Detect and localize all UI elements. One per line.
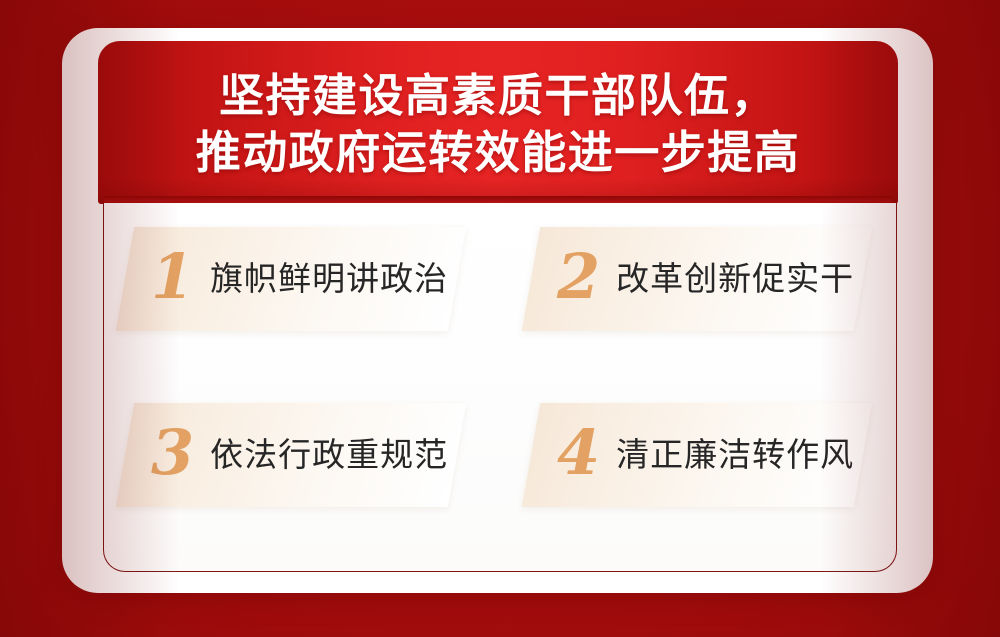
item-label-2: 改革创新促实干 bbox=[616, 261, 854, 297]
poster-root: 坚持建设高素质干部队伍， 推动政府运转效能进一步提高 1 旗帜鲜明讲政治 2 改… bbox=[0, 0, 1000, 637]
item-number-4: 4 bbox=[557, 422, 600, 484]
items-grid: 1 旗帜鲜明讲政治 2 改革创新促实干 3 依法行政重规范 4 清正廉洁转作风 bbox=[103, 203, 897, 572]
header-title-line-1: 坚持建设高素质干部队伍， bbox=[219, 67, 777, 124]
item-number-3: 3 bbox=[151, 422, 194, 484]
item-label-3: 依法行政重规范 bbox=[210, 437, 448, 473]
item-card-4[interactable]: 4 清正廉洁转作风 bbox=[522, 403, 872, 507]
item-number-1: 1 bbox=[151, 246, 194, 308]
item-card-1-inner: 1 旗帜鲜明讲政治 bbox=[125, 227, 457, 331]
item-card-1[interactable]: 1 旗帜鲜明讲政治 bbox=[116, 227, 466, 331]
item-card-3[interactable]: 3 依法行政重规范 bbox=[116, 403, 466, 507]
item-card-2-inner: 2 改革创新促实干 bbox=[531, 227, 863, 331]
header-title-line-2: 推动政府运转效能进一步提高 bbox=[196, 124, 801, 181]
item-number-2: 2 bbox=[557, 246, 600, 308]
item-label-1: 旗帜鲜明讲政治 bbox=[210, 261, 448, 297]
header-banner: 坚持建设高素质干部队伍， 推动政府运转效能进一步提高 bbox=[98, 41, 898, 204]
item-card-4-inner: 4 清正廉洁转作风 bbox=[531, 403, 863, 507]
item-card-2[interactable]: 2 改革创新促实干 bbox=[522, 227, 872, 331]
item-label-4: 清正廉洁转作风 bbox=[616, 437, 854, 473]
item-card-3-inner: 3 依法行政重规范 bbox=[125, 403, 457, 507]
